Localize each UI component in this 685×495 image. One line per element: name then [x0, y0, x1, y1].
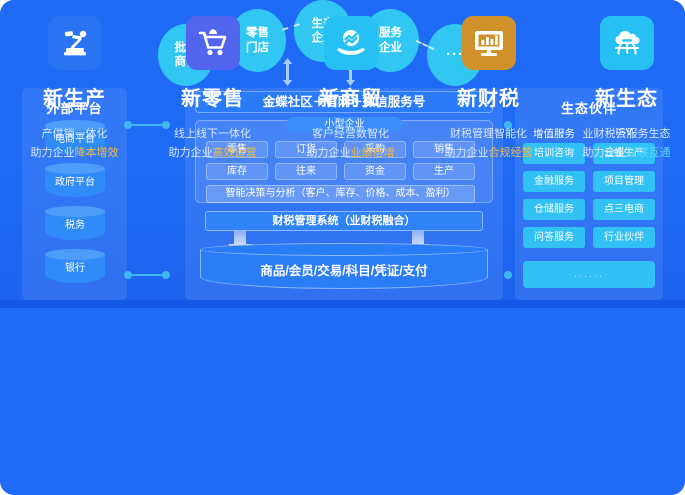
- cloud-network-icon: [600, 16, 654, 70]
- pillar-desc-highlight: 降本增效: [75, 147, 119, 159]
- data-store-cylinder: 商品/会员/交易/科目/凭证/支付: [200, 243, 488, 291]
- connector-dot-mid-right-bottom: [504, 271, 512, 279]
- pillar-desc-line1: 客户经营数智化: [282, 125, 419, 144]
- monitor-chart-icon: [462, 16, 516, 70]
- cylinder-label: 税务: [45, 215, 105, 237]
- pillar-desc-line1: 线上线下一体化: [144, 125, 281, 144]
- pillar-new-production[interactable]: 新生产 产供销一体化 助力企业降本增效: [6, 16, 143, 163]
- pillar-title: 新财税: [420, 82, 557, 111]
- intelligent-analysis-bar[interactable]: 智能决策与分析（客户、库存、价格、成本、盈利）: [206, 185, 475, 203]
- module-cell-inventory[interactable]: 库存: [206, 163, 268, 180]
- isv-item-1[interactable]: 项目管理: [593, 171, 655, 192]
- pillar-desc-line2: 助力企业业绩倍增: [282, 144, 419, 163]
- section-divider: [0, 300, 685, 308]
- pillar-desc-highlight: 高效运营: [213, 147, 257, 159]
- robot-arm-icon: [48, 16, 102, 70]
- connector-dot-left-bottom-b: [162, 271, 170, 279]
- module-cell-funds[interactable]: 资金: [344, 163, 406, 180]
- isv-item-3[interactable]: 行业伙伴: [593, 227, 655, 248]
- pillar-desc-highlight: 合规经营: [489, 147, 533, 159]
- pillar-description: 业财税云服务生态 助力企业互联互通: [558, 125, 685, 163]
- pillar-description: 线上线下一体化 助力企业高效运营: [144, 125, 281, 163]
- cylinder-label: 银行: [45, 258, 105, 280]
- pillar-description: 财税管理智能化 助力企业合规经营: [420, 125, 557, 163]
- pillar-desc-highlight: 业绩倍增: [351, 147, 395, 159]
- pillar-desc-plain: 助力企业: [445, 147, 489, 159]
- module-cell-exchange[interactable]: 往来: [275, 163, 337, 180]
- value-added-item-2[interactable]: 仓储服务: [523, 199, 585, 220]
- hand-chart-icon: [324, 16, 378, 70]
- ecosystem-more-button[interactable]: ······: [523, 261, 655, 288]
- pillar-desc-plain: 助力企业: [583, 147, 627, 159]
- external-platform-item-1[interactable]: 政府平台: [45, 163, 105, 201]
- pillar-desc-line2: 助力企业合规经营: [420, 144, 557, 163]
- connector-line-left-bottom: [128, 274, 166, 276]
- pillar-new-finance-tax[interactable]: 新财税 财税管理智能化 助力企业合规经营: [420, 16, 557, 163]
- value-added-item-1[interactable]: 金融服务: [523, 171, 585, 192]
- pillar-title: 新商贸: [282, 82, 419, 111]
- pillar-new-retail[interactable]: 新零售 线上线下一体化 助力企业高效运营: [144, 16, 281, 163]
- module-cell-production[interactable]: 生产: [413, 163, 475, 180]
- connector-dot-left-bottom-a: [124, 271, 132, 279]
- pillar-desc-line1: 业财税云服务生态: [558, 125, 685, 144]
- cylinder-label: 政府平台: [45, 172, 105, 194]
- pillar-desc-line2: 助力企业互联互通: [558, 144, 685, 163]
- pillar-title: 新生态: [558, 82, 685, 111]
- pillar-desc-line2: 助力企业高效运营: [144, 144, 281, 163]
- pillar-title: 新生产: [6, 82, 143, 111]
- pillar-description: 产供销一体化 助力企业降本增效: [6, 125, 143, 163]
- pillar-desc-line1: 产供销一体化: [6, 125, 143, 144]
- pillar-desc-line1: 财税管理智能化: [420, 125, 557, 144]
- pillars-area: [0, 306, 685, 495]
- external-platform-item-2[interactable]: 税务: [45, 206, 105, 244]
- pillar-new-commerce[interactable]: 新商贸 客户经营数智化 助力企业业绩倍增: [282, 16, 419, 163]
- pillar-new-ecosystem[interactable]: 新生态 业财税云服务生态 助力企业互联互通: [558, 16, 685, 163]
- pillar-desc-highlight: 互联互通: [627, 147, 671, 159]
- shopping-cart-icon: [186, 16, 240, 70]
- tax-management-bar[interactable]: 财税管理系统（业财税融合）: [205, 211, 483, 231]
- value-added-item-3[interactable]: 问答服务: [523, 227, 585, 248]
- pillar-desc-line2: 助力企业降本增效: [6, 144, 143, 163]
- pillar-desc-plain: 助力企业: [307, 147, 351, 159]
- pillar-description: 客户经营数智化 助力企业业绩倍增: [282, 125, 419, 163]
- data-store-label: 商品/会员/交易/科目/凭证/支付: [200, 260, 488, 279]
- external-platform-item-3[interactable]: 银行: [45, 249, 105, 287]
- pillar-desc-plain: 助力企业: [31, 147, 75, 159]
- pillar-title: 新零售: [144, 82, 281, 111]
- pillar-desc-plain: 助力企业: [169, 147, 213, 159]
- architecture-diagram: 批发 商行 零售 门店 生产 企业 服务 企业 ··· 外部平台 电商平台: [0, 0, 685, 495]
- cylinder-top: [200, 243, 488, 256]
- isv-item-2[interactable]: 点三电商: [593, 199, 655, 220]
